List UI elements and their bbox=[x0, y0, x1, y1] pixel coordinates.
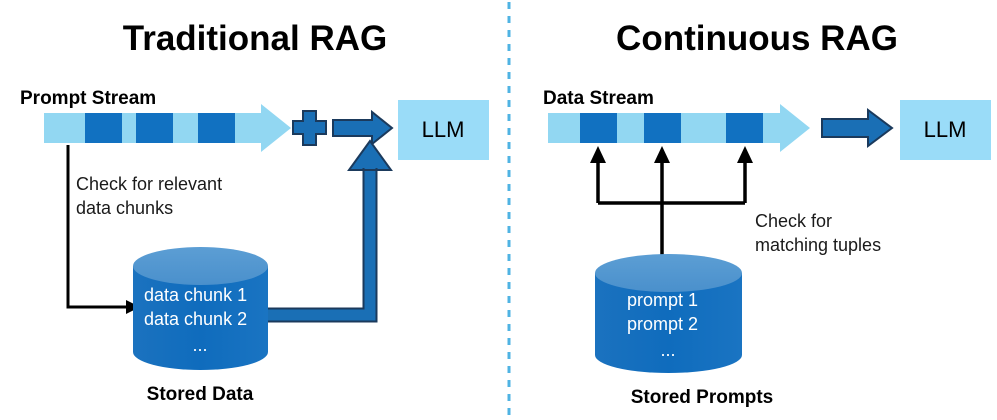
to-llm-arrow-left bbox=[333, 112, 392, 144]
stored-data-caption: Stored Data bbox=[147, 384, 254, 405]
left-panel: Traditional RAG Prompt Stream bbox=[20, 19, 489, 405]
stored-data-entry-2: data chunk 2 bbox=[144, 309, 247, 329]
check-leader-line-left bbox=[68, 145, 140, 314]
prompt-stream-arrow bbox=[44, 104, 291, 152]
data-stream-chunk-2 bbox=[644, 113, 681, 143]
left-panel-title: Traditional RAG bbox=[123, 19, 387, 58]
llm-box-left[interactable]: LLM bbox=[398, 100, 489, 160]
diagram-root: Traditional RAG Prompt Stream bbox=[0, 0, 997, 420]
check-annotation-left-line2: data chunks bbox=[76, 198, 173, 218]
match-fanout-connectors bbox=[590, 146, 753, 255]
check-annotation-right-line2: matching tuples bbox=[755, 235, 881, 255]
llm-box-left-label: LLM bbox=[422, 117, 465, 142]
data-stream-chunk-3 bbox=[726, 113, 763, 143]
llm-box-right[interactable]: LLM bbox=[900, 100, 991, 160]
stored-prompts-entry-1: prompt 1 bbox=[627, 290, 698, 310]
stored-data-entry-1: data chunk 1 bbox=[144, 285, 247, 305]
stored-data-entry-3: ... bbox=[192, 335, 207, 355]
data-stream-arrow bbox=[548, 104, 810, 152]
llm-box-right-label: LLM bbox=[924, 117, 967, 142]
right-panel: Continuous RAG Data Stream LLM bbox=[543, 19, 991, 408]
data-stream-label: Data Stream bbox=[543, 88, 654, 109]
stored-prompts-entry-2: prompt 2 bbox=[627, 314, 698, 334]
stored-prompts-entry-3: ... bbox=[660, 340, 675, 360]
check-annotation-right-line1: Check for bbox=[755, 211, 832, 231]
prompt-stream-chunk-3 bbox=[198, 113, 235, 143]
retrieval-elbow-arrow bbox=[268, 141, 391, 322]
prompt-stream-chunk-2 bbox=[136, 113, 173, 143]
rag-comparison-diagram: Traditional RAG Prompt Stream bbox=[0, 0, 997, 420]
combine-plus-icon bbox=[293, 111, 326, 145]
to-llm-arrow-right bbox=[822, 110, 892, 146]
stored-prompts-cylinder[interactable]: prompt 1 prompt 2 ... bbox=[595, 254, 742, 373]
prompt-stream-chunk-1 bbox=[85, 113, 122, 143]
right-panel-title: Continuous RAG bbox=[616, 19, 898, 58]
stored-prompts-caption: Stored Prompts bbox=[631, 387, 774, 408]
check-annotation-left-line1: Check for relevant bbox=[76, 174, 222, 194]
data-stream-chunk-1 bbox=[580, 113, 617, 143]
prompt-stream-label: Prompt Stream bbox=[20, 88, 156, 109]
stored-data-cylinder[interactable]: data chunk 1 data chunk 2 ... bbox=[133, 247, 268, 370]
